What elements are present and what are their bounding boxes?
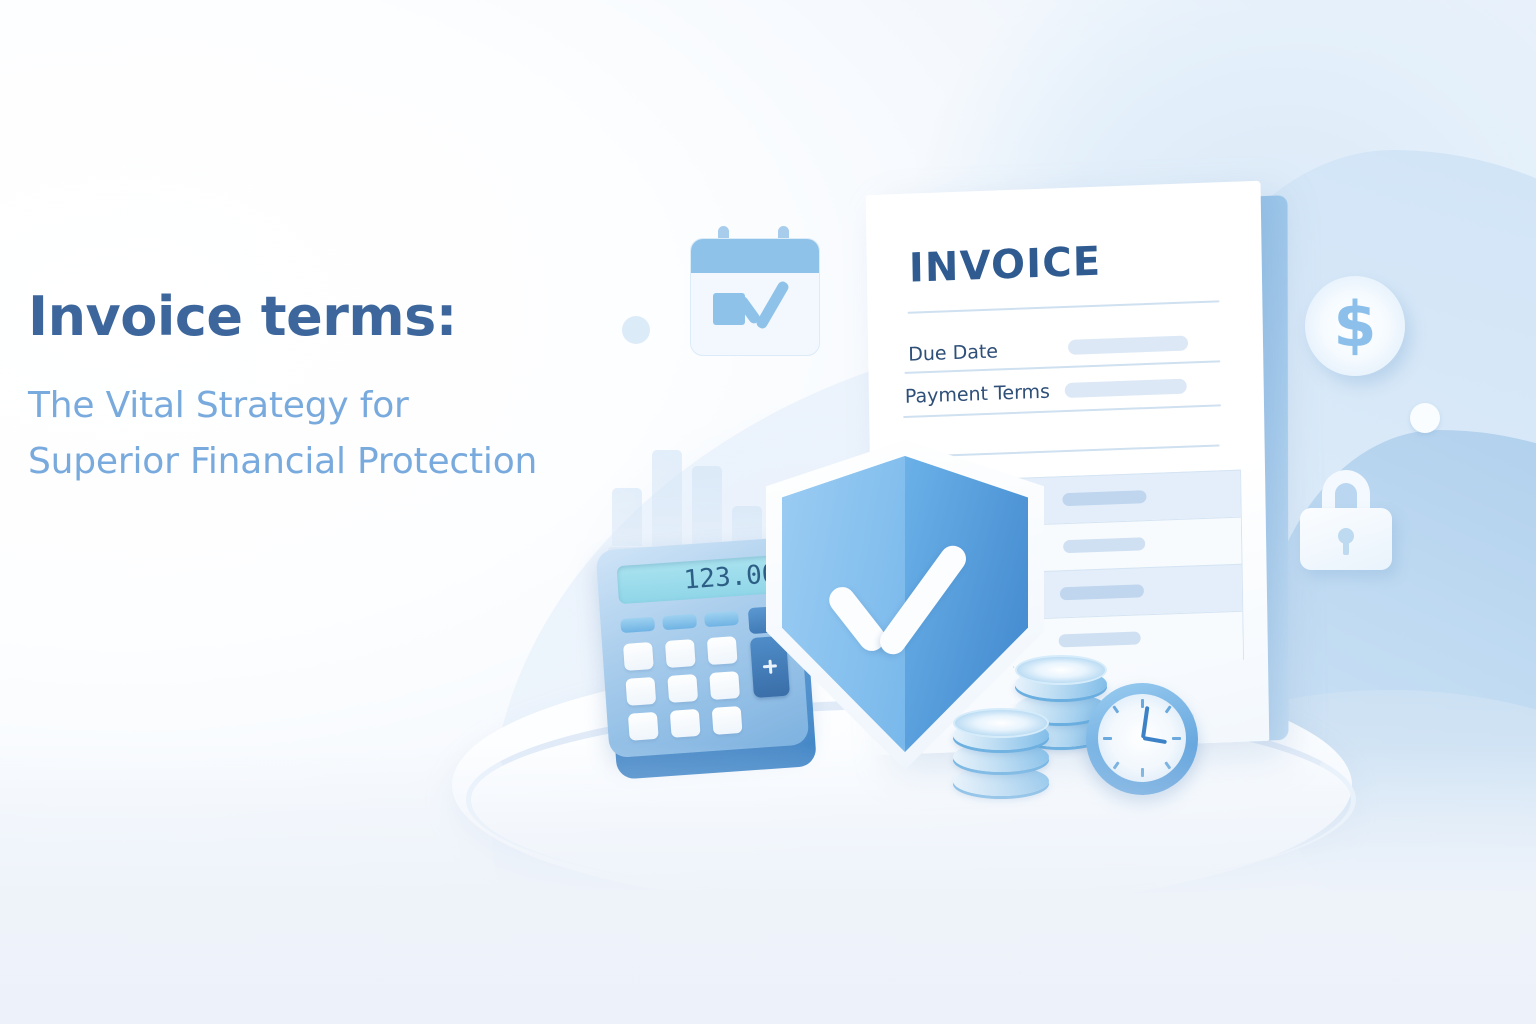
calculator-key: [623, 642, 654, 671]
background-bottom-fade: [0, 744, 1536, 1024]
table-cell-placeholder: [1059, 631, 1141, 647]
calendar-header-band: [691, 239, 819, 273]
invoice-field-value-payment-terms: [1065, 379, 1187, 398]
calculator-key: [628, 712, 659, 741]
table-cell-placeholder: [1063, 537, 1145, 553]
decorative-dot: [622, 316, 650, 344]
clock-tick: [1172, 737, 1181, 740]
calculator-key: [712, 706, 743, 735]
calculator-display: 123.00: [617, 555, 784, 604]
invoice-divider: [908, 300, 1220, 313]
dollar-symbol: $: [1333, 294, 1376, 356]
illustration-canvas: Invoice terms: The Vital Strategy for Su…: [0, 0, 1536, 1024]
calculator-key: [707, 636, 738, 665]
headline-block: Invoice terms: The Vital Strategy for Su…: [28, 288, 628, 490]
decorative-dot-small: [1410, 403, 1440, 433]
padlock-keyhole: [1338, 528, 1354, 544]
coin-top-face: [1015, 655, 1107, 685]
clock-tick: [1113, 705, 1120, 713]
invoice-field-value-due-date: [1068, 335, 1188, 354]
calculator-function-key: [662, 614, 697, 630]
clock-tick: [1165, 705, 1172, 713]
invoice-divider: [903, 404, 1221, 418]
calendar-body: [690, 238, 820, 356]
calculator-display-value: 123.00: [683, 559, 779, 595]
table-cell-placeholder: [1060, 584, 1144, 600]
clock-tick: [1103, 737, 1112, 740]
calendar-checkmark-icon: [735, 281, 791, 311]
checkmark-icon: [828, 558, 984, 650]
calculator-key: [667, 674, 698, 703]
calendar-check-icon: [690, 238, 820, 356]
subtitle-line-2: Superior Financial Protection: [28, 434, 628, 490]
calculator-key: [665, 639, 696, 668]
dollar-coin-icon: $: [1305, 276, 1405, 376]
calculator-function-key: [704, 611, 739, 627]
page-subtitle: The Vital Strategy for Superior Financia…: [28, 378, 628, 490]
calculator-key: [709, 671, 740, 700]
table-cell-placeholder: [1062, 490, 1146, 506]
coin-top-face: [953, 708, 1049, 738]
calculator-key: [625, 677, 656, 706]
invoice-field-label-due-date: Due Date: [908, 340, 998, 365]
clock-tick: [1141, 699, 1144, 708]
bar-chart-bar: [652, 450, 682, 546]
calculator-function-key: [620, 617, 655, 633]
page-title: Invoice terms:: [28, 288, 628, 346]
bar-chart-bar: [692, 466, 722, 546]
bar-chart-icon: [608, 448, 768, 554]
clock-minute-hand: [1141, 706, 1149, 738]
invoice-field-label-payment-terms: Payment Terms: [905, 381, 1050, 408]
bar-chart-bar: [612, 488, 642, 546]
invoice-title: INVOICE: [909, 239, 1102, 292]
padlock-icon: [1300, 470, 1392, 570]
calculator-key: [670, 709, 701, 738]
clock-hour-hand: [1142, 736, 1166, 744]
subtitle-line-1: The Vital Strategy for: [28, 378, 628, 434]
